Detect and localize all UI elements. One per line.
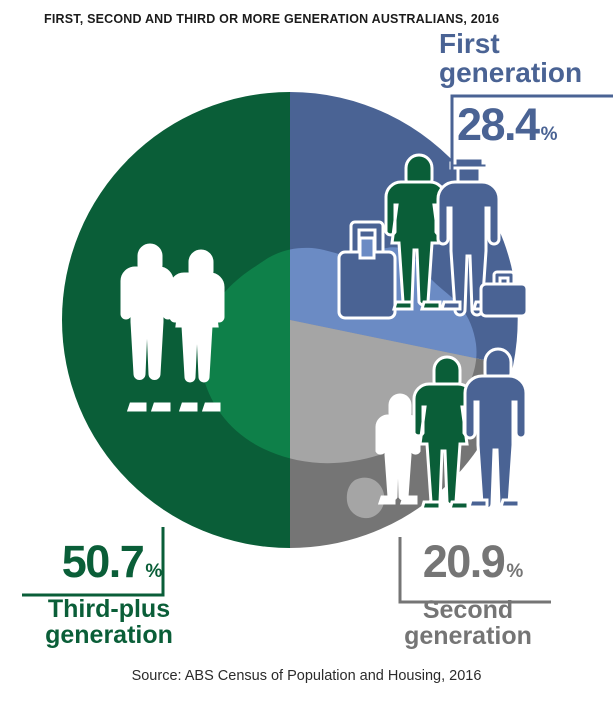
callout-third-plus-generation-value-row: 50.7 %	[20, 536, 204, 588]
second-generation-percentage: 20.9	[423, 536, 505, 588]
percent-sign: %	[145, 561, 162, 583]
callout-second-generation-value-row: 20.9 %	[378, 536, 568, 588]
third-plus-generation-percentage: 50.7	[62, 536, 144, 588]
source-note: Source: ABS Census of Population and Hou…	[0, 668, 613, 684]
callout-second-generation-heading: Second generation	[368, 598, 568, 649]
callout-first-generation-heading: First generation	[439, 30, 613, 87]
percent-sign: %	[506, 561, 523, 583]
callout-second-generation: 20.9 % Second generation	[368, 536, 568, 649]
callout-third-plus-generation: 50.7 % Third-plus generation	[14, 536, 204, 648]
callout-first-generation: First generation 28.4 %	[432, 30, 613, 151]
callout-first-generation-value-row: 28.4 %	[457, 99, 613, 151]
percent-sign: %	[541, 124, 558, 146]
pie-chart: First generation 28.4 % 50.7 % Third-plu…	[0, 0, 613, 660]
callout-third-plus-generation-heading: Third-plus generation	[14, 597, 204, 648]
first-generation-percentage: 28.4	[457, 99, 539, 151]
infographic-root: FIRST, SECOND AND THIRD OR MORE GENERATI…	[0, 0, 613, 704]
